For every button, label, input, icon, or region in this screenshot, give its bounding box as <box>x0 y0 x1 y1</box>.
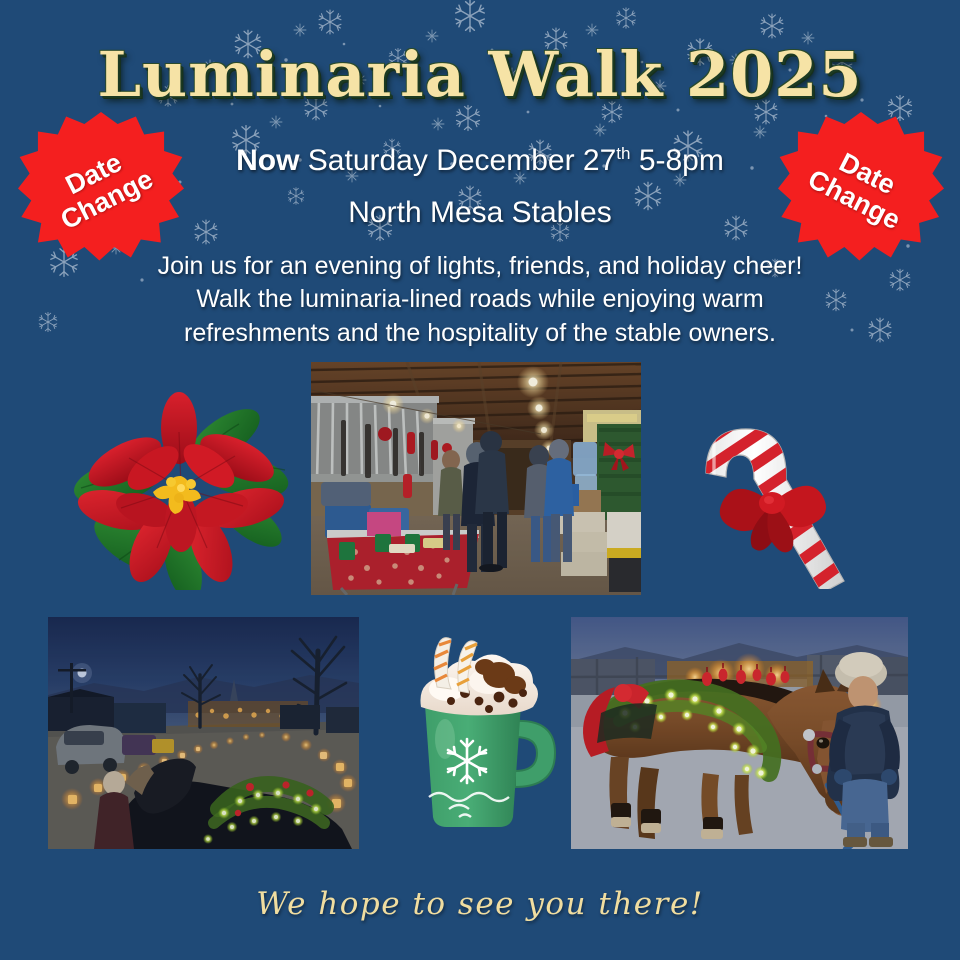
holiday-event-flyer: Luminaria Walk 2025 Now Saturday Decembe… <box>0 0 960 960</box>
description-line-2: Walk the luminaria-lined roads while enj… <box>0 283 960 316</box>
description-line-3: refreshments and the hospitality of the … <box>0 317 960 350</box>
flyer-title-block: Luminaria Walk 2025 <box>0 44 960 106</box>
hot-cocoa-mug-icon <box>403 635 566 831</box>
event-description: Join us for an evening of lights, friend… <box>0 250 960 350</box>
luminaria-night-photo <box>48 617 359 849</box>
event-time: 5-8pm <box>630 144 723 177</box>
page-title: Luminaria Walk 2025 <box>0 44 960 106</box>
date-emphasis: Now <box>236 144 299 177</box>
decorated-horse-photo <box>571 617 908 849</box>
date-change-badge-right: Date Change <box>778 112 944 262</box>
poinsettia-flower-icon <box>73 392 289 590</box>
date-ordinal: th <box>616 144 630 163</box>
date-text: Saturday December 27 <box>299 144 616 177</box>
candy-cane-icon <box>668 403 862 589</box>
closing-message: We hope to see you there! <box>0 886 960 922</box>
date-change-badge-left: Date Change <box>18 112 184 262</box>
barn-gathering-photo <box>311 362 641 595</box>
